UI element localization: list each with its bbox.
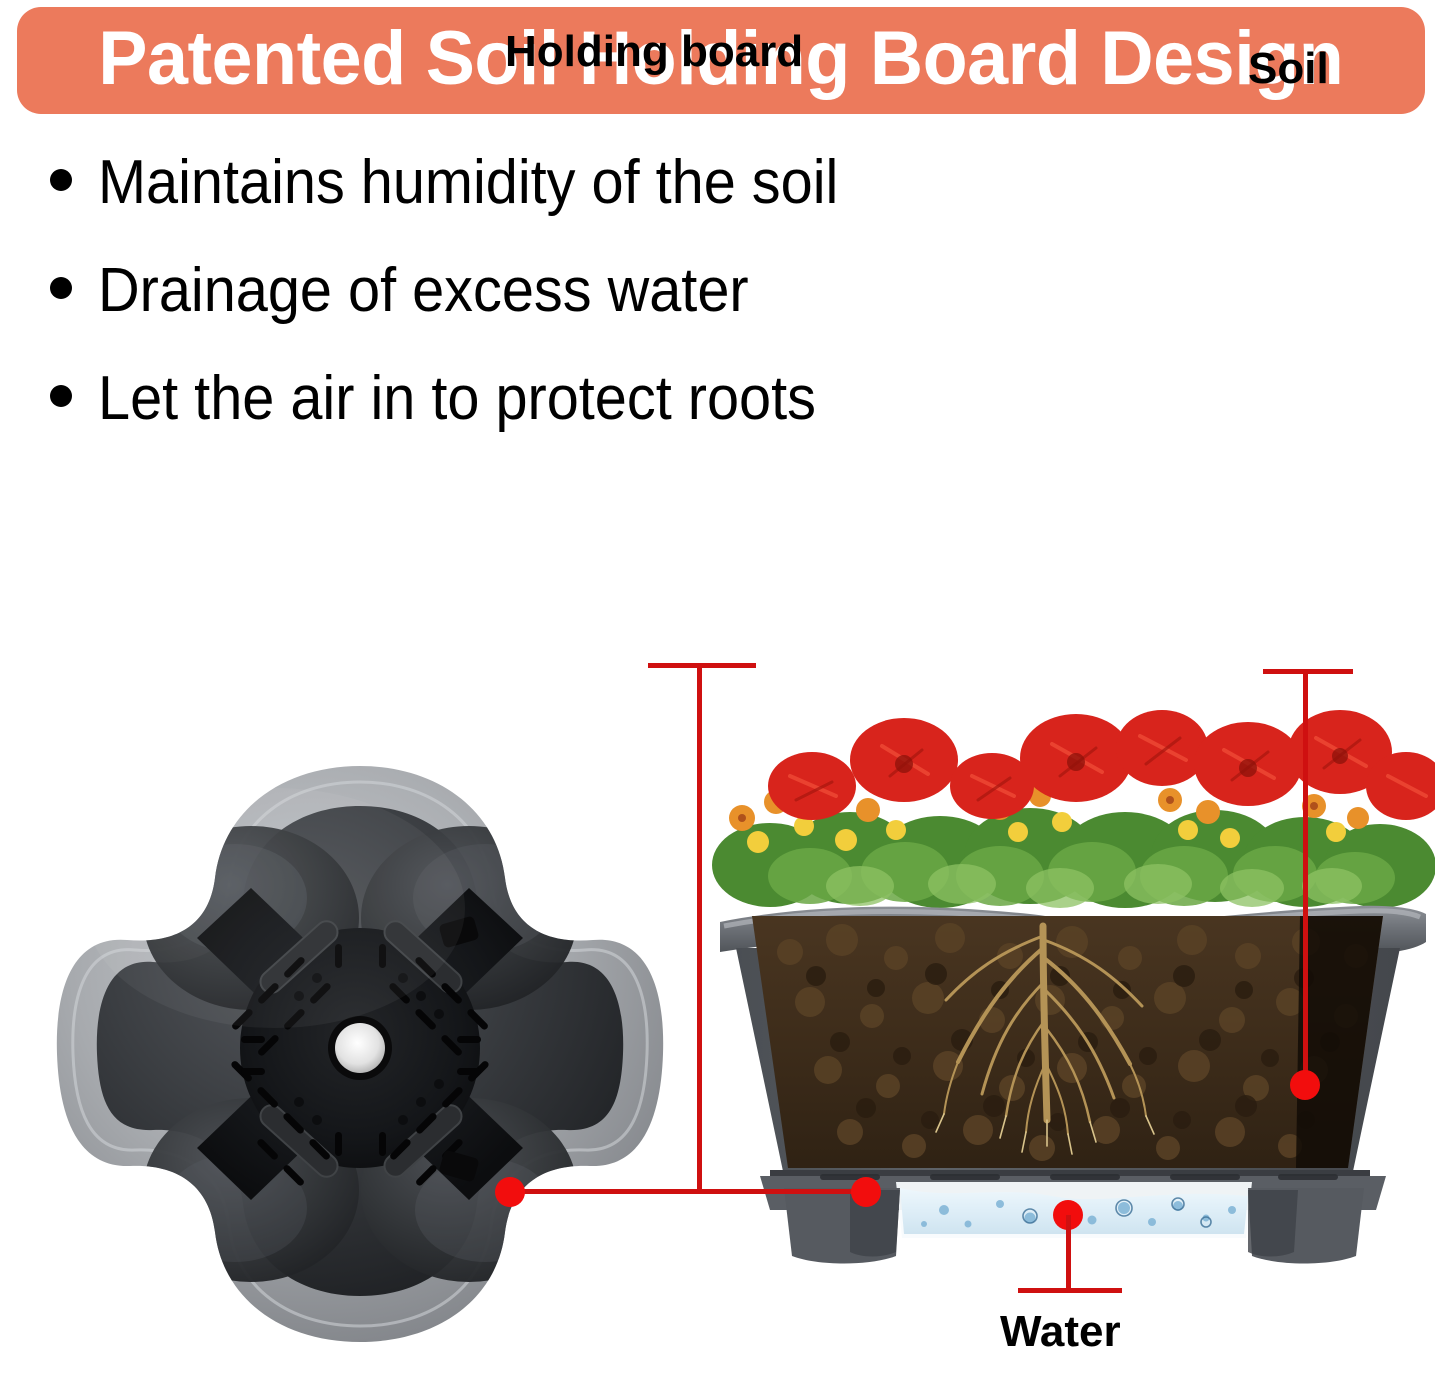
bullet-dot-icon bbox=[50, 385, 72, 407]
list-item: Maintains humidity of the soil bbox=[40, 152, 1140, 260]
callout-label-soil: Soil bbox=[1248, 47, 1329, 91]
leader-stem-holding-board bbox=[697, 663, 702, 1191]
planter-cross-section bbox=[700, 690, 1435, 1270]
infographic-page: Patented Soil Holding Board Design Maint… bbox=[0, 0, 1435, 1375]
feature-list: Maintains humidity of the soil Drainage … bbox=[40, 152, 1140, 476]
leader-dot-holding-board-right bbox=[851, 1177, 881, 1207]
drain-hole-icon bbox=[335, 1023, 385, 1073]
leader-crossbar-water bbox=[1018, 1288, 1122, 1293]
leader-stem-soil bbox=[1303, 669, 1308, 1085]
list-item: Drainage of excess water bbox=[40, 260, 1140, 368]
list-item: Let the air in to protect roots bbox=[40, 368, 1140, 476]
feature-text: Let the air in to protect roots bbox=[98, 368, 816, 430]
leader-rail-holding-board bbox=[508, 1189, 868, 1194]
pot-body bbox=[736, 910, 1400, 1180]
flower-cluster bbox=[712, 710, 1435, 908]
feature-text: Maintains humidity of the soil bbox=[98, 152, 838, 214]
leader-dot-soil bbox=[1290, 1070, 1320, 1100]
quatrefoil-planter-top-view bbox=[45, 748, 675, 1360]
leader-stem-water bbox=[1066, 1215, 1071, 1293]
leader-crossbar-holding-board bbox=[648, 663, 756, 668]
callout-label-holding-board: Holding board bbox=[505, 30, 803, 74]
bullet-dot-icon bbox=[50, 169, 72, 191]
leader-dot-holding-board-left bbox=[495, 1177, 525, 1207]
feature-text: Drainage of excess water bbox=[98, 260, 749, 322]
bullet-dot-icon bbox=[50, 277, 72, 299]
callout-label-water: Water bbox=[1000, 1310, 1121, 1354]
leader-crossbar-soil bbox=[1263, 669, 1353, 674]
